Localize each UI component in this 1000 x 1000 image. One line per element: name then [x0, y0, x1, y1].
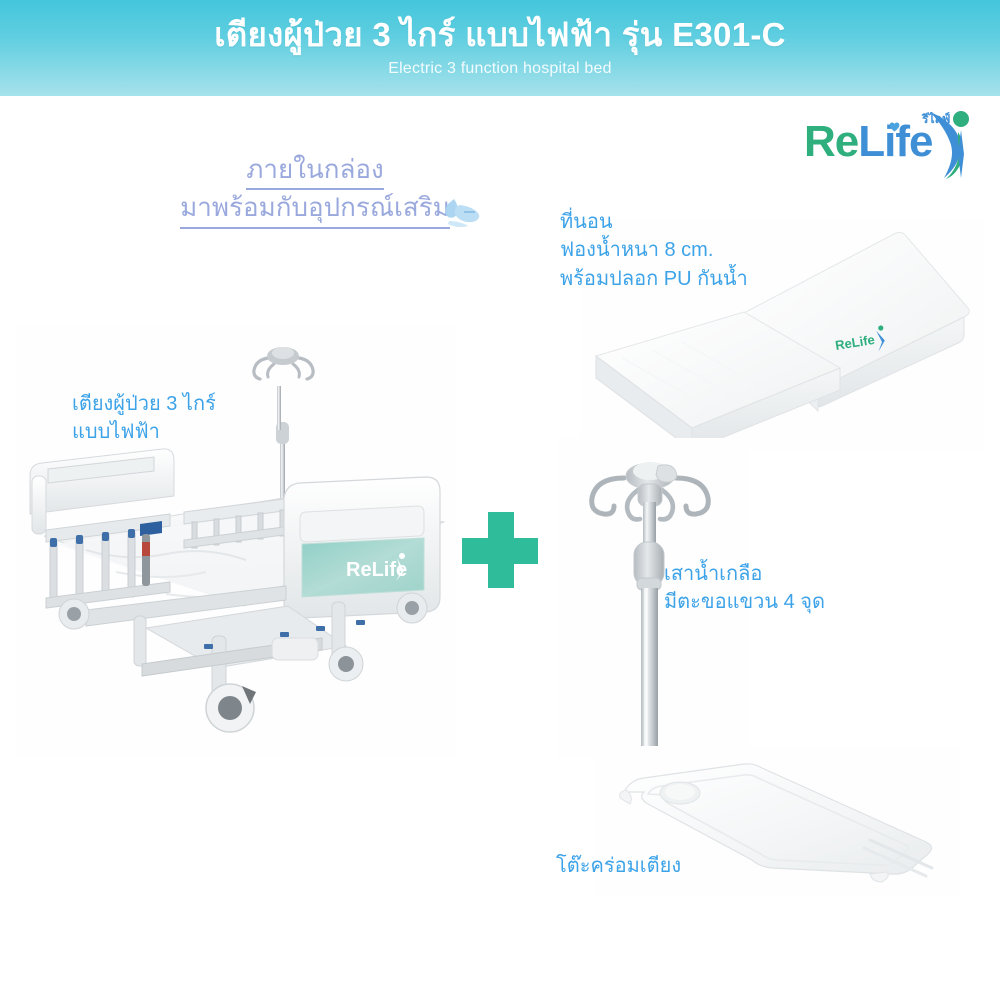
heart-icon — [889, 122, 900, 132]
bed-label: เตียงผู้ป่วย 3 ไกร์ แบบไฟฟ้า — [72, 390, 216, 447]
mattress-label: ที่นอน ฟองน้ำหนา 8 cm. พร้อมปลอก PU กันน… — [560, 208, 748, 293]
overbed-table-label: โต๊ะคร่อมเตียง — [556, 852, 681, 880]
page-title: เตียงผู้ป่วย 3 ไกร์ แบบไฟฟ้า รุ่น E301-C — [214, 18, 786, 53]
page-subtitle: Electric 3 function hospital bed — [388, 60, 611, 78]
brand-wordmark-re: Re — [804, 117, 858, 166]
header-banner: เตียงผู้ป่วย 3 ไกร์ แบบไฟฟ้า รุ่น E301-C… — [0, 0, 1000, 96]
in-the-box-heading-line2: มาพร้อมกับอุปกรณ์เสริม — [180, 190, 450, 228]
brand-wordmark: ReLife — [804, 120, 932, 164]
medical-cross-icon — [462, 512, 538, 588]
water-droplet-icon — [440, 196, 484, 230]
iv-pole-label: เสาน้ำเกลือ มีตะขอแขวน 4 จุด — [664, 560, 825, 617]
brand-logo: ReLife รีไลฟ์ — [804, 108, 976, 182]
cross-vertical-bar — [488, 512, 514, 588]
running-person-icon — [918, 108, 974, 180]
in-the-box-heading-line1: ภายในกล่อง — [246, 152, 383, 190]
product-infographic: เตียงผู้ป่วย 3 ไกร์ แบบไฟฟ้า รุ่น E301-C… — [0, 0, 1000, 1000]
